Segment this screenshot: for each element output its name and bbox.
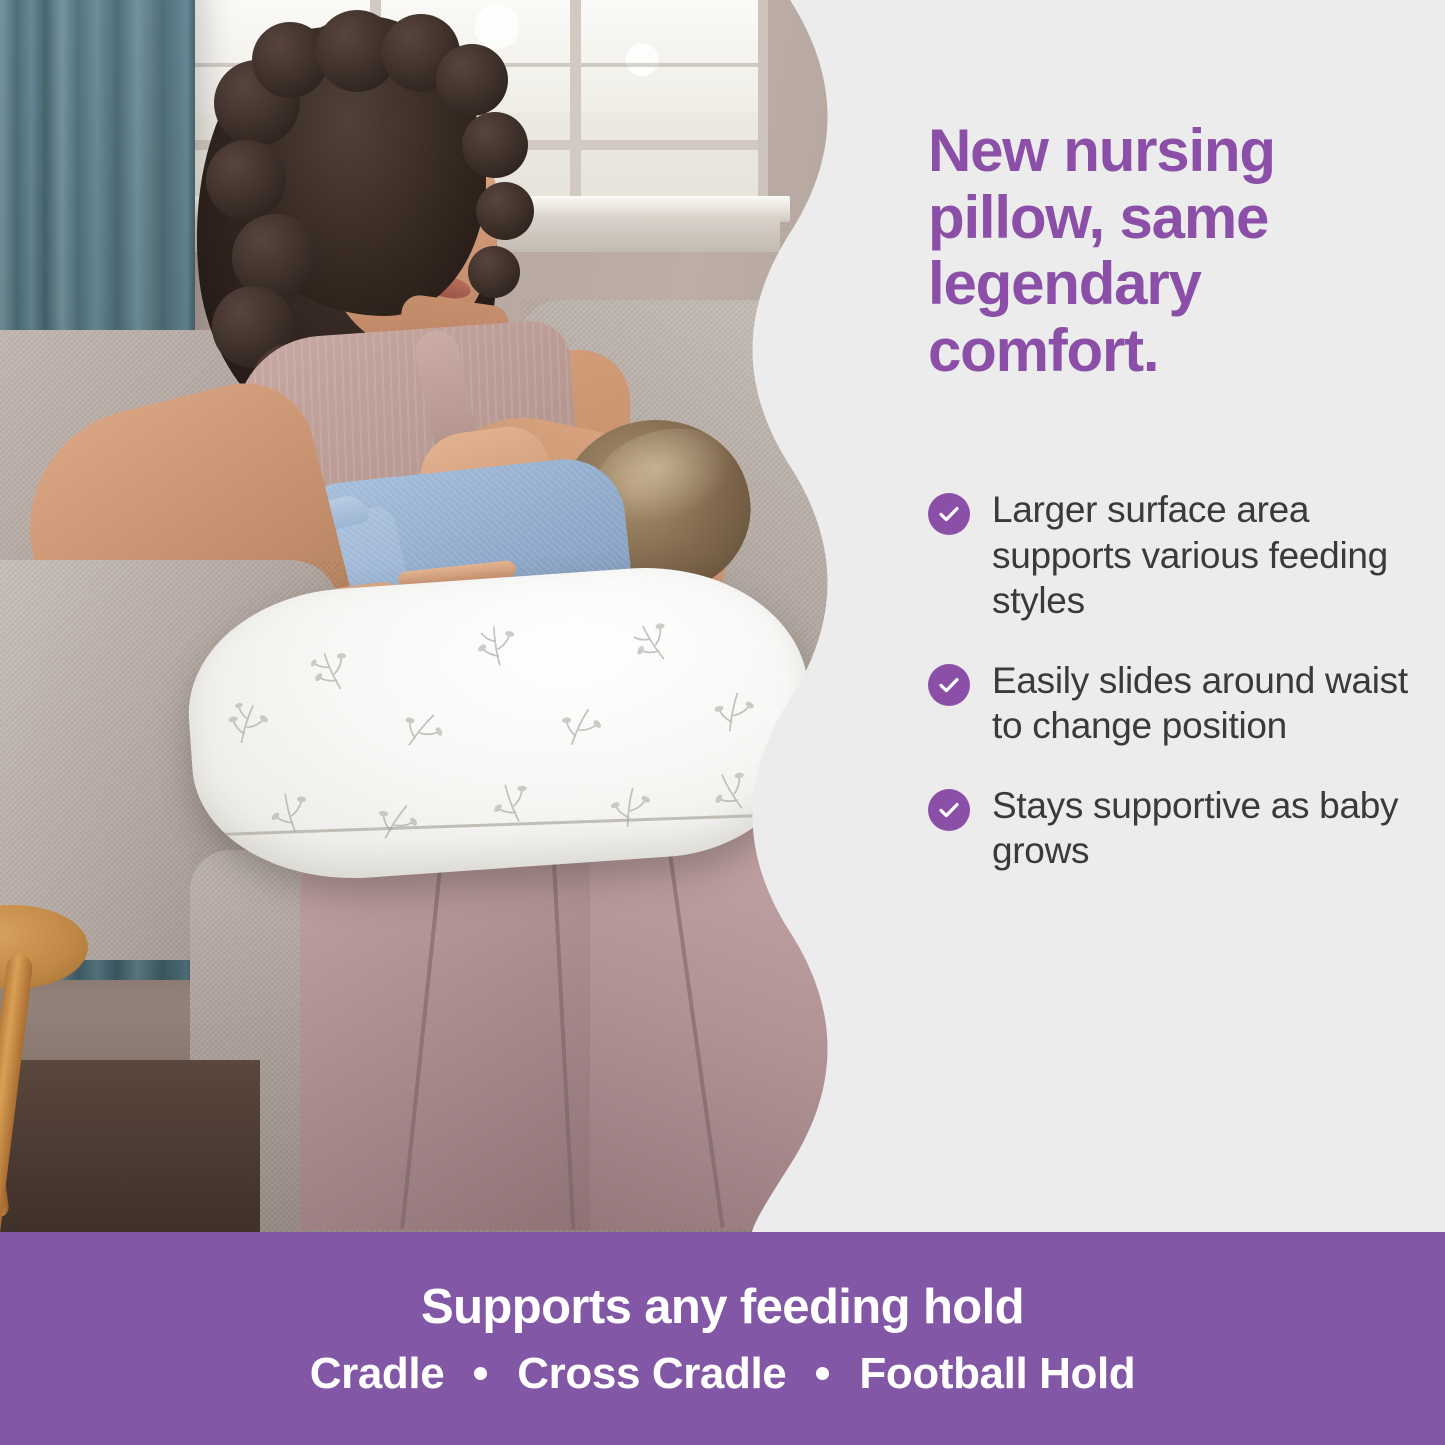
feature-text: Larger surface area supports various fee…: [992, 487, 1408, 624]
headline-line-1: New nursing: [928, 117, 1275, 184]
marketing-copy-panel: New nursing pillow, same legendary comfo…: [840, 0, 1445, 1232]
check-circle-icon: [928, 493, 970, 535]
feature-text: Easily slides around waist to change pos…: [992, 658, 1408, 749]
nursing-pillow: [181, 557, 820, 890]
footer-title: Supports any feeding hold: [421, 1279, 1024, 1335]
separator-dot-icon: [816, 1367, 829, 1380]
feature-list: Larger surface area supports various fee…: [928, 487, 1408, 908]
headline-line-3: legendary: [928, 250, 1201, 317]
feeding-hold-list: Cradle Cross Cradle Football Hold: [310, 1349, 1136, 1399]
list-item: Larger surface area supports various fee…: [928, 487, 1408, 624]
hold-cradle: Cradle: [310, 1349, 445, 1399]
headline-line-4: comfort.: [928, 317, 1158, 384]
mother-pants-left-leg: [300, 830, 590, 1230]
feature-text: Stays supportive as baby grows: [992, 783, 1408, 874]
check-circle-icon: [928, 789, 970, 831]
ad-creative: New nursing pillow, same legendary comfo…: [0, 0, 1445, 1445]
list-item: Stays supportive as baby grows: [928, 783, 1408, 874]
product-lifestyle-photo: [0, 0, 840, 1232]
check-circle-icon: [928, 664, 970, 706]
page-title: New nursing pillow, same legendary comfo…: [928, 118, 1398, 384]
headline-line-2: pillow, same: [928, 184, 1268, 251]
list-item: Easily slides around waist to change pos…: [928, 658, 1408, 749]
hold-football: Football Hold: [859, 1349, 1135, 1399]
hold-cross-cradle: Cross Cradle: [517, 1349, 786, 1399]
separator-dot-icon: [474, 1367, 487, 1380]
footer-banner: Supports any feeding hold Cradle Cross C…: [0, 1232, 1445, 1445]
wood-floor: [0, 1060, 260, 1232]
